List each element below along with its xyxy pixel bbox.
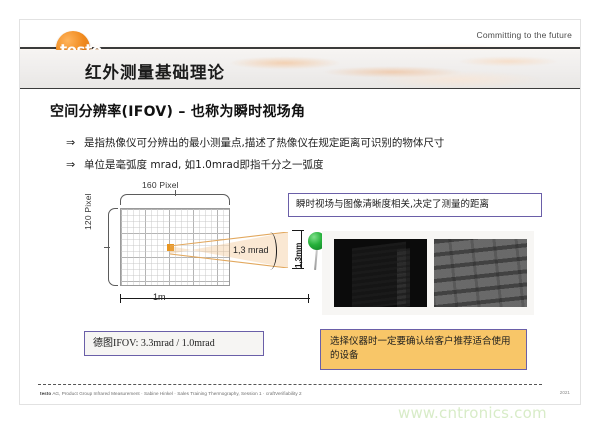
slide-canvas: Committing to the future testo 红外测量基础理论 …	[0, 0, 600, 424]
callout-ifov-values: 德图IFOV: 3.3mrad / 1.0mrad	[84, 331, 264, 356]
scale-cap-left	[120, 294, 121, 303]
dimension-tick-bottom	[292, 268, 304, 269]
thermal-photo-near	[434, 239, 527, 307]
diagram-height-label: 120 Pixel	[83, 193, 93, 230]
spot-size-label: 1,3mm	[294, 243, 303, 268]
pushpin-needle-icon	[314, 248, 318, 270]
distance-label: 1m	[153, 292, 166, 302]
footer-page-number: 2021	[560, 390, 570, 395]
bullet-item-1-text: 是指热像仪可分辨出的最小测量点,描述了热像仪在规定距离可识别的物体尺寸	[84, 137, 444, 149]
thermal-photo-far	[334, 239, 427, 307]
title-bar-decorative-texture	[220, 50, 580, 88]
footer-detail: AG, Product Group Infrared Measurement ·…	[52, 391, 301, 396]
bullet-item-2-text: 单位是毫弧度 mrad, 如1.0mrad即指千分之一弧度	[84, 159, 324, 171]
page-title: 红外测量基础理论	[85, 59, 225, 83]
building-side-face	[397, 248, 410, 307]
bullet-item-1: ⇒是指热像仪可分辨出的最小测量点,描述了热像仪在规定距离可识别的物体尺寸	[66, 135, 444, 150]
thermal-image-pair	[322, 231, 534, 315]
header-tagline: Committing to the future	[476, 30, 572, 40]
site-watermark: www.cntronics.com	[398, 404, 547, 422]
scale-line	[120, 298, 310, 299]
bullet-item-2: ⇒单位是毫弧度 mrad, 如1.0mrad即指千分之一弧度	[66, 157, 324, 172]
footer-text: testo AG, Product Group Infrared Measure…	[40, 391, 302, 396]
callout-top: 瞬时视场与图像清晰度相关,决定了测量的距离	[288, 193, 542, 217]
height-brace	[108, 208, 118, 286]
header-divider-line	[20, 47, 580, 49]
footer-brand: testo	[40, 391, 51, 396]
section-headline: 空间分辨率(IFOV) – 也称为瞬时视场角	[50, 101, 305, 121]
diagram-width-label: 160 Pixel	[142, 180, 179, 190]
arrow-icon: ⇒	[66, 158, 84, 171]
callout-recommendation: 选择仪器时一定要确认给客户推荐适合使用的设备	[320, 329, 527, 370]
arrow-icon: ⇒	[66, 136, 84, 149]
scale-cap-right	[308, 294, 309, 303]
title-underline	[20, 88, 580, 89]
angle-arc	[263, 232, 277, 270]
dimension-tick-top	[292, 230, 304, 231]
footer-divider	[38, 384, 542, 385]
building-facade	[434, 239, 527, 307]
width-brace	[120, 194, 230, 205]
distance-scale	[120, 294, 310, 306]
